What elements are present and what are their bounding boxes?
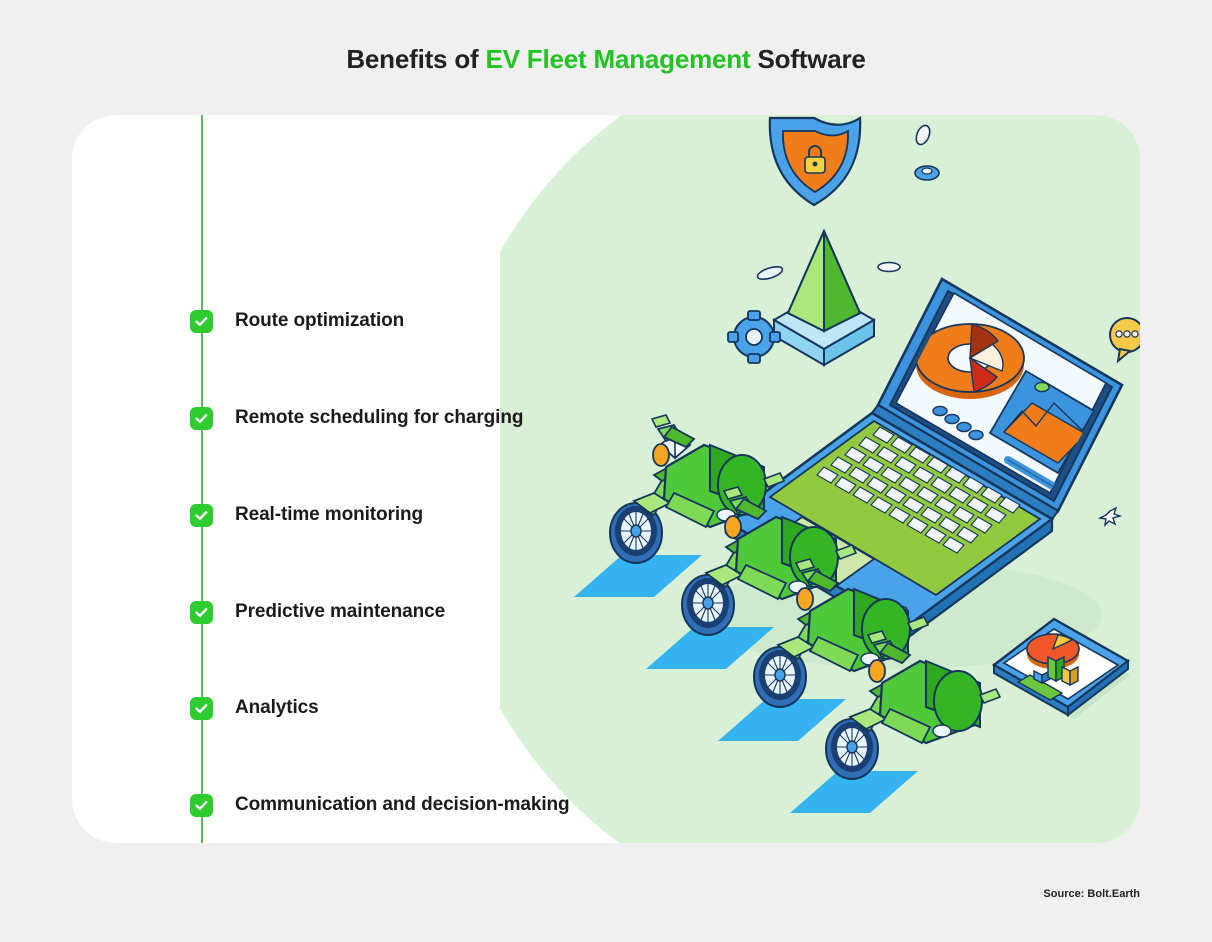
list-item[interactable]: Predictive maintenance: [190, 600, 445, 624]
check-icon[interactable]: [190, 504, 213, 527]
ev-fleet-illustration: [502, 115, 1140, 843]
check-icon[interactable]: [190, 697, 213, 720]
chat-bubble-icon: [1110, 318, 1140, 361]
title-accent: EV Fleet Management: [486, 44, 751, 74]
cursor-icon: [1100, 508, 1120, 525]
content-card: Route optimization Remote scheduling for…: [72, 115, 1140, 843]
title-suffix: Software: [750, 44, 865, 74]
list-item-label: Analytics: [235, 697, 319, 719]
list-item-label: Remote scheduling for charging: [235, 407, 523, 429]
list-item-label: Route optimization: [235, 310, 404, 332]
list-item-label: Predictive maintenance: [235, 601, 445, 623]
check-icon[interactable]: [190, 310, 213, 333]
shield-lock-icon: [770, 118, 860, 205]
gear-icon: [728, 311, 780, 363]
pyramid-icon: [756, 231, 874, 365]
list-item[interactable]: Real-time monitoring: [190, 503, 423, 527]
check-icon[interactable]: [190, 407, 213, 430]
timeline-line: [201, 115, 203, 843]
source-attribution: Source: Bolt.Earth: [1043, 888, 1140, 900]
gear-icon: [915, 166, 939, 180]
infographic-page: Benefits of EV Fleet Management Software…: [0, 0, 1212, 942]
list-item[interactable]: Analytics: [190, 696, 319, 720]
page-title: Benefits of EV Fleet Management Software: [0, 44, 1212, 75]
list-item-label: Real-time monitoring: [235, 504, 423, 526]
check-icon[interactable]: [190, 601, 213, 624]
title-prefix: Benefits of: [346, 44, 485, 74]
donut-chart-illustration: [916, 324, 1024, 399]
floating-capsule-icon: [878, 263, 900, 272]
check-icon[interactable]: [190, 794, 213, 817]
floating-capsule-icon: [914, 123, 933, 146]
list-item[interactable]: Route optimization: [190, 309, 404, 333]
list-item[interactable]: Remote scheduling for charging: [190, 406, 523, 430]
